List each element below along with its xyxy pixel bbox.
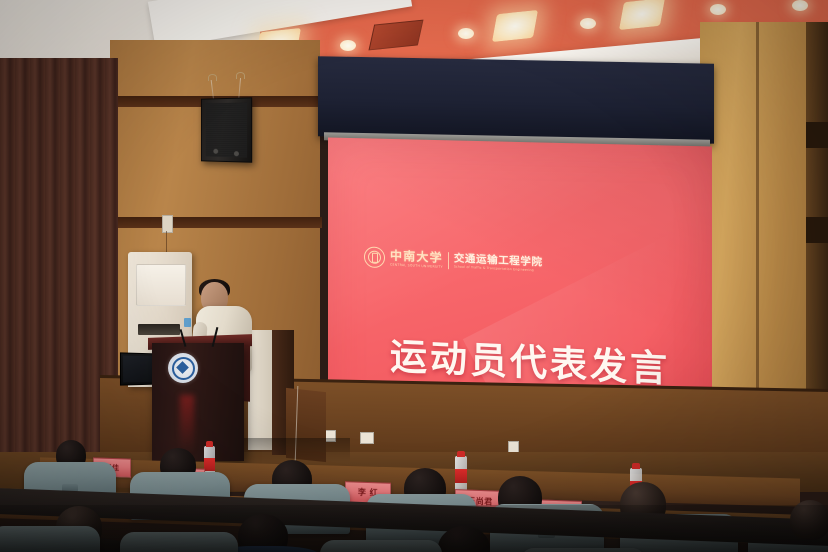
wall-recess — [806, 122, 828, 148]
ceiling-panel-light-icon — [492, 10, 538, 42]
speaker-anchor-icon — [208, 74, 217, 81]
ac-front-panel — [136, 264, 186, 306]
ceiling-downlight-icon — [340, 40, 356, 51]
screen-valance-box — [318, 56, 714, 144]
slide-logo-lockup: 中南大学 CENTRAL SOUTH UNIVERSITY 交通运输工程学院 S… — [364, 246, 543, 275]
ceiling-vent-icon — [368, 20, 423, 51]
auditorium-photo: 中南大学 CENTRAL SOUTH UNIVERSITY 交通运输工程学院 S… — [0, 0, 828, 552]
wall-trim-strip — [110, 217, 322, 228]
wall-loudspeaker — [201, 97, 252, 162]
wall-right-edge — [806, 22, 828, 452]
wall-thermostat — [162, 215, 173, 233]
ceiling-downlight-icon — [792, 0, 808, 11]
speaker-driver-icon — [234, 151, 239, 156]
ac-display-vent — [138, 324, 180, 335]
ceiling-downlight-icon — [710, 4, 726, 15]
ac-indicator-icon — [184, 318, 191, 327]
wall-recess — [806, 217, 828, 243]
foreground-shadow — [0, 505, 828, 552]
university-seal-icon — [364, 246, 385, 268]
logo-divider — [448, 252, 449, 269]
ceiling-downlight-icon — [580, 18, 596, 29]
ceiling-panel-light-icon — [619, 0, 665, 30]
ceiling-downlight-icon — [458, 28, 474, 39]
university-crest-icon — [168, 353, 198, 383]
projection-screen-assembly: 中南大学 CENTRAL SOUTH UNIVERSITY 交通运输工程学院 S… — [318, 60, 726, 390]
speaker-grill — [206, 102, 247, 157]
speaker-driver-icon — [213, 149, 218, 154]
water-bottle — [455, 456, 467, 492]
ac-wire — [166, 231, 167, 253]
